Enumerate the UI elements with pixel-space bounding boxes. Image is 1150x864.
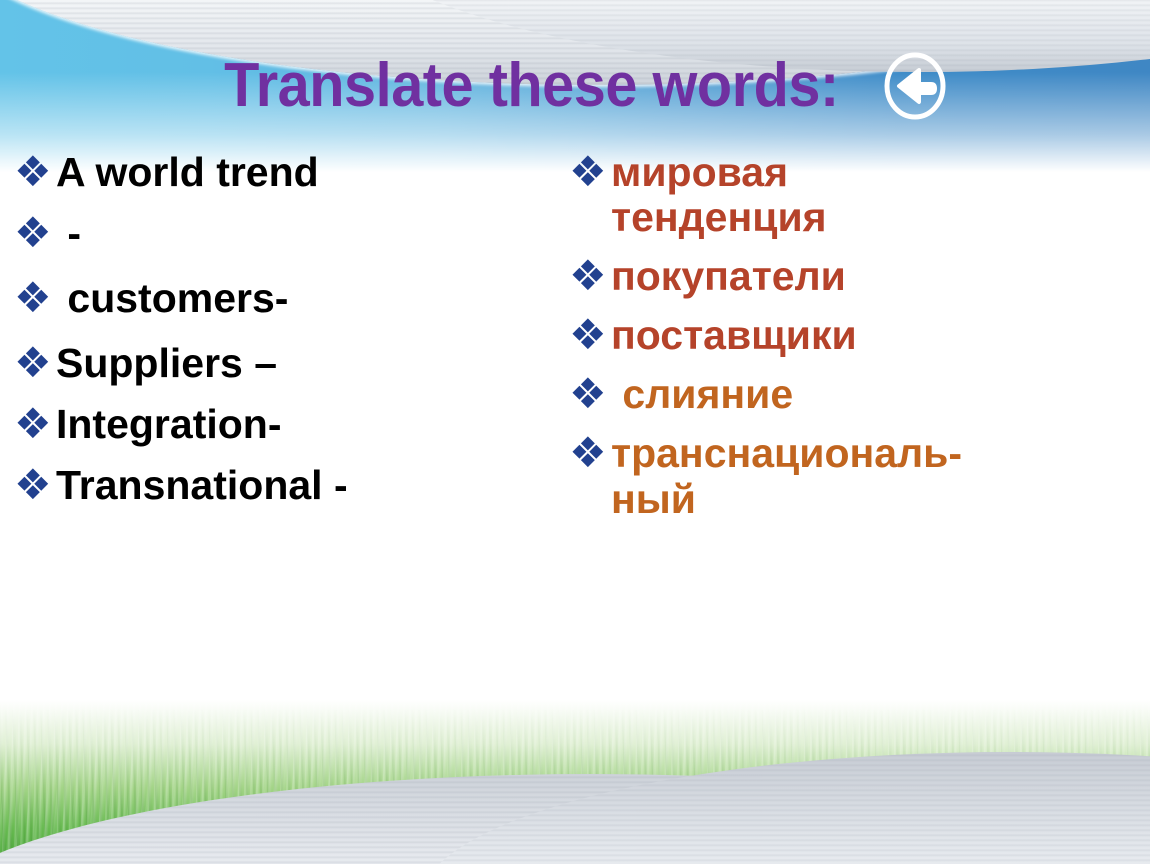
diamond-bullet-icon: ❖ (569, 372, 611, 416)
list-item: ❖ покупатели (569, 254, 1150, 299)
list-item: ❖ Transnational - (14, 463, 555, 508)
english-column: ❖ A world trend ❖ - ❖ customers- ❖ Suppl… (0, 150, 555, 710)
list-item-label: Suppliers – (56, 341, 277, 386)
diamond-bullet-icon: ❖ (569, 150, 611, 194)
title-row: Translate these words: (0, 52, 1150, 120)
diamond-bullet-icon: ❖ (569, 313, 611, 357)
back-arrow-button[interactable] (881, 52, 949, 120)
diamond-bullet-icon: ❖ (14, 341, 56, 385)
list-item: ❖ customers- (14, 276, 555, 321)
list-item: ❖ слияние (569, 372, 1150, 417)
content-area: ❖ A world trend ❖ - ❖ customers- ❖ Suppl… (0, 150, 1150, 710)
list-item-label: Transnational - (56, 463, 348, 508)
list-item-label: мировая тенденция (611, 150, 827, 240)
list-item-label: слияние (611, 372, 793, 417)
list-item: ❖ A world trend (14, 150, 555, 195)
diamond-bullet-icon: ❖ (569, 254, 611, 298)
list-item-label: - (56, 211, 81, 256)
list-item-label: A world trend (56, 150, 319, 195)
diamond-bullet-icon: ❖ (14, 402, 56, 446)
list-item-label: поставщики (611, 313, 857, 358)
page-title: Translate these words: (224, 55, 839, 117)
diamond-bullet-icon: ❖ (14, 463, 56, 507)
list-item: ❖ мировая тенденция (569, 150, 1150, 240)
slide-canvas: Translate these words: ❖ A world trend ❖… (0, 0, 1150, 864)
list-item: ❖ Suppliers – (14, 341, 555, 386)
list-item-label: покупатели (611, 254, 846, 299)
diamond-bullet-icon: ❖ (14, 276, 56, 320)
list-item: ❖ - (14, 211, 555, 256)
list-item: ❖ Integration- (14, 402, 555, 447)
footer-band (0, 664, 1150, 864)
list-item-label: Integration- (56, 402, 281, 447)
diamond-bullet-icon: ❖ (569, 431, 611, 475)
list-item-label: customers- (56, 276, 288, 321)
list-item: ❖ транснациональ- ный (569, 431, 1150, 521)
back-arrow-icon[interactable] (881, 52, 949, 120)
diamond-bullet-icon: ❖ (14, 150, 56, 194)
list-item-label: транснациональ- ный (611, 431, 962, 521)
list-item: ❖ поставщики (569, 313, 1150, 358)
diamond-bullet-icon: ❖ (14, 211, 56, 255)
russian-column: ❖ мировая тенденция ❖ покупатели ❖ поста… (555, 150, 1150, 710)
